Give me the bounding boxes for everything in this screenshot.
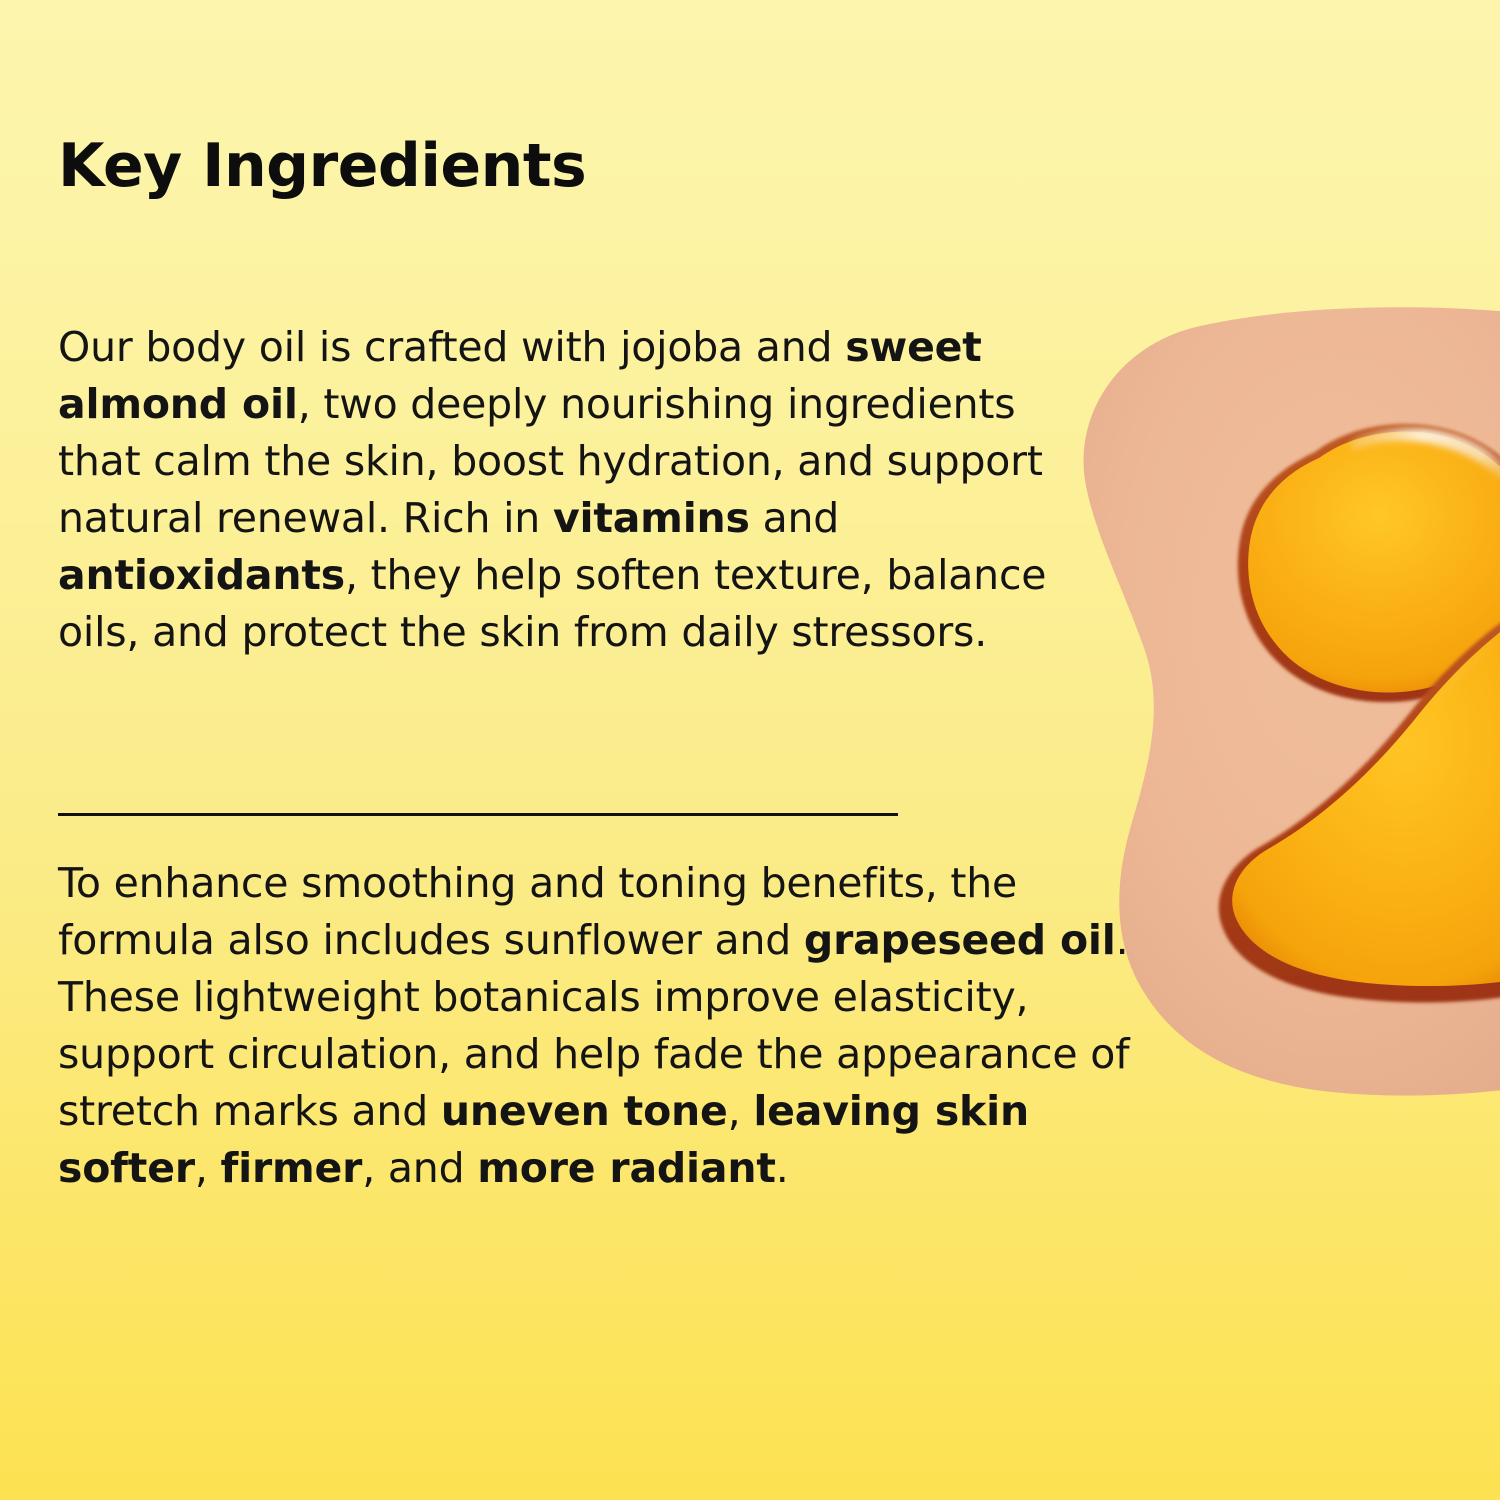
body-text: , (195, 1144, 221, 1192)
body-text: and (750, 494, 839, 542)
content-column: Key Ingredients Our body oil is crafted … (58, 0, 1158, 1500)
page-title: Key Ingredients (58, 131, 586, 201)
body-text: , and (362, 1144, 477, 1192)
key-ingredients-card: Key Ingredients Our body oil is crafted … (0, 0, 1500, 1500)
body-text: , (728, 1087, 754, 1135)
oil-droplet-round (1238, 424, 1500, 702)
paragraph-key-ingredients-secondary: To enhance smoothing and toning benefits… (58, 855, 1168, 1197)
emphasis-text: grapeseed oil (804, 916, 1116, 964)
section-divider (58, 813, 898, 816)
emphasis-text: antioxidants (58, 551, 345, 599)
emphasis-text: vitamins (553, 494, 750, 542)
emphasis-text: firmer (221, 1144, 363, 1192)
oil-droplet-pool (1219, 588, 1500, 1002)
emphasis-text: more radiant (477, 1144, 776, 1192)
body-text: . (776, 1144, 789, 1192)
emphasis-text: uneven tone (441, 1087, 728, 1135)
paragraph-key-ingredients-primary: Our body oil is crafted with jojoba and … (58, 319, 1058, 661)
body-text: Our body oil is crafted with jojoba and (58, 323, 845, 371)
